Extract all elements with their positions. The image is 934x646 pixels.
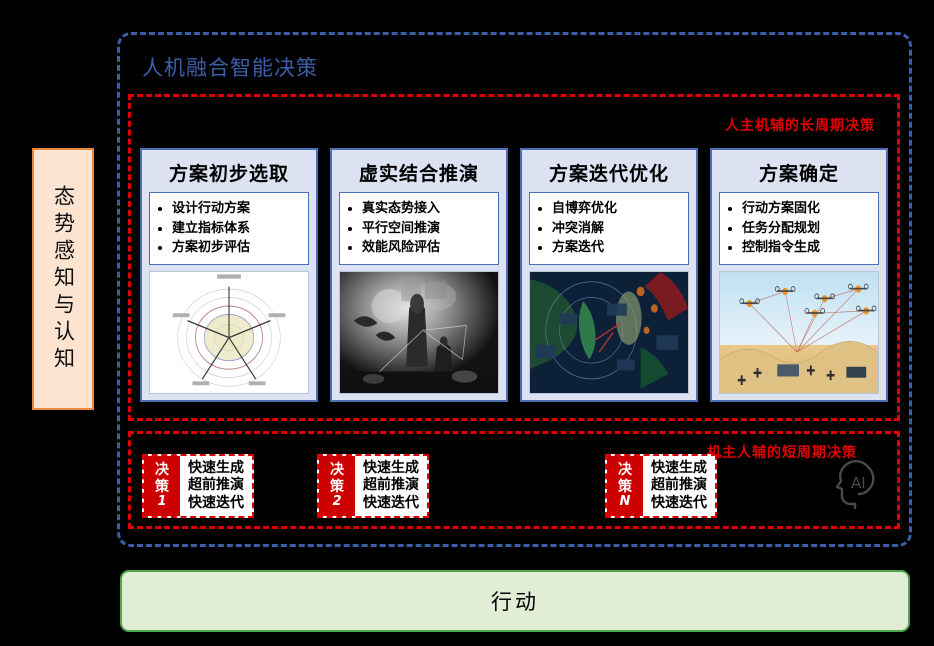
phase-card-title: 虚实结合推演 [359,159,479,186]
phase-bullet: 自博弈优化 [552,199,684,219]
phase-card-bullets: 设计行动方案 建立指标体系 方案初步评估 [149,192,309,265]
svg-text:AI: AI [851,474,866,492]
phase-bullet: 真实态势接入 [362,199,494,219]
decision-tag-char-1: 决 [330,462,344,478]
phase-bullet: 建立指标体系 [172,219,304,239]
phase-bullet: 效能风险评估 [362,238,494,258]
phase-bullet: 冲突消解 [552,219,684,239]
decision-actions: 快速生成 超前推演 快速迭代 [355,456,427,516]
phase-card-title: 方案确定 [759,159,839,186]
long-cycle-label: 人主机辅的长周期决策 [725,115,875,135]
phase-card-4[interactable]: 方案确定 行动方案固化 任务分配规划 控制指令生成 [710,148,888,402]
decision-index: 2 [332,495,341,510]
drone-swarm-thumbnail [719,271,879,395]
decision-block-1[interactable]: 决 策 1 快速生成 超前推演 快速迭代 [142,454,254,518]
soldier-virtual-scene-thumbnail [339,271,499,395]
decision-index: 1 [157,495,166,510]
action-bar: 行动 [120,570,910,632]
situation-awareness-box: 态势感知与认知 [32,148,94,410]
decision-action: 快速生成 [651,460,707,478]
decision-tag-char-2: 策 [330,479,344,495]
decision-tag-char-2: 策 [155,479,169,495]
decision-block-n[interactable]: 决 策 N 快速生成 超前推演 快速迭代 [605,454,717,518]
action-label: 行动 [491,586,539,616]
phase-card-1[interactable]: 方案初步选取 设计行动方案 建立指标体系 方案初步评估 [140,148,318,402]
decision-action: 超前推演 [363,477,419,495]
decision-action: 快速迭代 [651,495,707,513]
radar-chart-thumbnail [149,271,309,395]
decision-action: 超前推演 [651,477,707,495]
phase-bullet: 任务分配规划 [742,219,874,239]
decision-actions: 快速生成 超前推演 快速迭代 [643,456,715,516]
decision-tag-char-2: 策 [618,479,632,495]
decision-tag-char-1: 决 [155,462,169,478]
phase-bullet: 控制指令生成 [742,238,874,258]
decision-action: 快速迭代 [363,495,419,513]
phase-bullet: 行动方案固化 [742,199,874,219]
short-cycle-decision-region: 机主人辅的短周期决策 决 策 1 快速生成 超前推演 快速迭代 决 策 2 快速… [128,431,900,529]
decision-action: 快速迭代 [188,495,244,513]
phase-card-3[interactable]: 方案迭代优化 自博弈优化 冲突消解 方案迭代 [520,148,698,402]
phase-card-title: 方案迭代优化 [549,159,669,186]
decision-action: 超前推演 [188,477,244,495]
phase-bullet: 平行空间推演 [362,219,494,239]
decision-tag: 决 策 1 [144,456,180,516]
ai-head-icon: AI [833,456,879,510]
phase-bullet: 方案初步评估 [172,238,304,258]
phase-card-bullets: 真实态势接入 平行空间推演 效能风险评估 [339,192,499,265]
phase-bullet: 设计行动方案 [172,199,304,219]
situation-awareness-label: 态势感知与认知 [53,185,74,374]
decision-tag: 决 策 N [607,456,643,516]
phase-card-bullets: 自博弈优化 冲突消解 方案迭代 [529,192,689,265]
decision-tag: 决 策 2 [319,456,355,516]
phase-card-2[interactable]: 虚实结合推演 真实态势接入 平行空间推演 效能风险评估 [330,148,508,402]
decision-tag-char-1: 决 [618,462,632,478]
decision-block-2[interactable]: 决 策 2 快速生成 超前推演 快速迭代 [317,454,429,518]
phase-card-list: 方案初步选取 设计行动方案 建立指标体系 方案初步评估 [140,148,888,402]
decision-action: 快速生成 [188,460,244,478]
tactical-map-thumbnail [529,271,689,395]
phase-bullet: 方案迭代 [552,238,684,258]
decision-actions: 快速生成 超前推演 快速迭代 [180,456,252,516]
phase-card-bullets: 行动方案固化 任务分配规划 控制指令生成 [719,192,879,265]
decision-action: 快速生成 [363,460,419,478]
fusion-title: 人机融合智能决策 [142,52,318,82]
decision-index: N [620,495,631,510]
phase-card-title: 方案初步选取 [169,159,289,186]
